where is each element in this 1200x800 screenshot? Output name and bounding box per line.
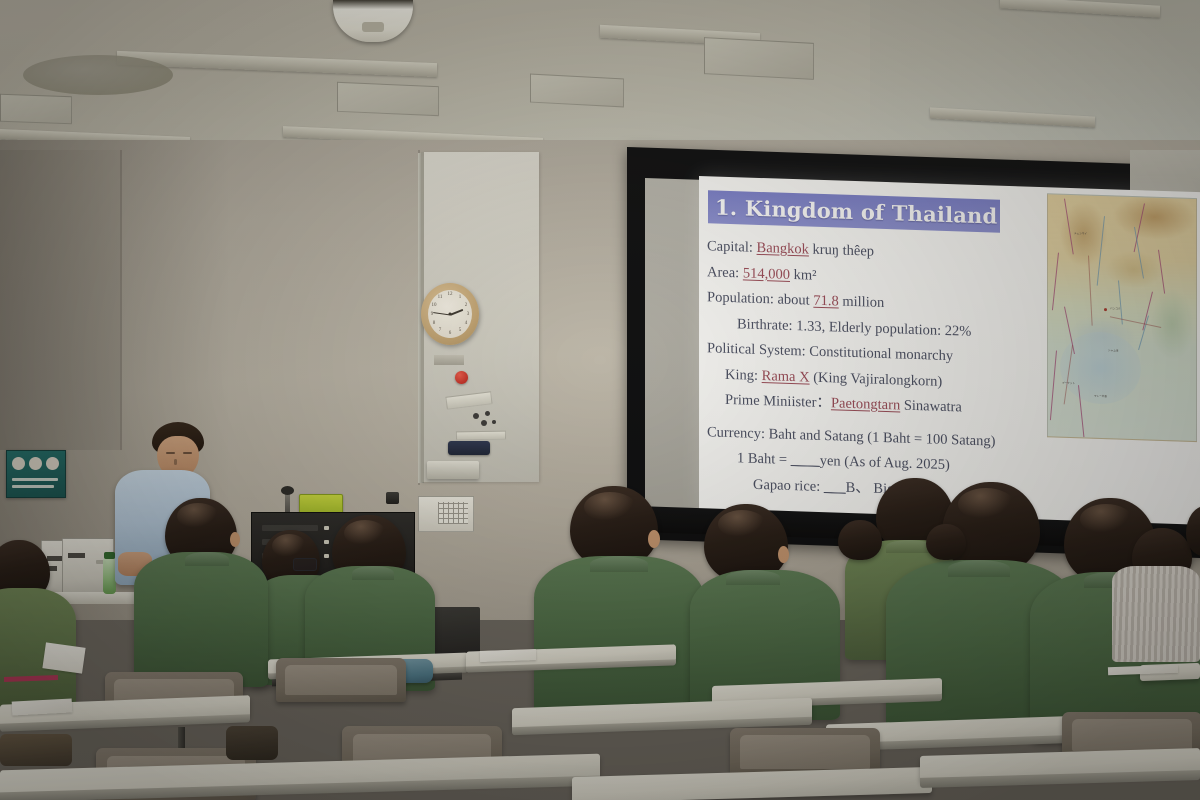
whiteboard-strip [456, 431, 506, 441]
av-led-icon [324, 526, 329, 530]
slide-text-run: Sinawatra [900, 397, 962, 415]
slide-text-run: King: [725, 366, 762, 383]
slide-text-run: kruŋ thêep [809, 242, 874, 260]
clock-wall-plate [434, 355, 464, 365]
desk [572, 767, 932, 800]
chair-backrest [740, 735, 870, 769]
clock-number: 12 [446, 292, 454, 297]
striped-shirt-person [1112, 566, 1200, 662]
clock-hour-hand [450, 308, 464, 315]
air-vent-icon [0, 94, 72, 125]
ceiling-right-shade [870, 0, 1200, 160]
black-magnet-icon[interactable] [485, 411, 490, 416]
student-head-background [926, 524, 966, 560]
slide-text-run: Capital: [707, 238, 757, 256]
slide-text-run: Rama X [762, 368, 810, 386]
polo-collar [590, 556, 648, 572]
clock-number: 5 [456, 328, 464, 333]
ceiling-speaker-icon [23, 55, 173, 95]
slide-text-run: Area: [707, 264, 743, 281]
map-label: チェンマイ [1074, 231, 1087, 235]
black-magnet-icon[interactable] [473, 413, 479, 419]
slide-text-run: ___ [824, 479, 846, 496]
teacher-eye [183, 452, 192, 454]
polo-collar [352, 566, 394, 580]
cabinet-label [47, 556, 63, 561]
poster-text-line-2 [12, 485, 54, 488]
handout[interactable] [42, 642, 85, 673]
air-vent-icon [337, 82, 439, 116]
slide-text-run: Population: about [707, 289, 813, 308]
worksheet[interactable] [480, 649, 536, 662]
slide-text-run: 514,000 [743, 265, 790, 283]
polo-collar [185, 552, 229, 566]
cabinet-label [68, 553, 85, 558]
slide-text-run: 71.8 [813, 293, 838, 310]
slide-text-run: Paetongtarn [831, 395, 900, 413]
slide-text-run: million [839, 294, 885, 311]
clock-face: 12 1 2 3 4 5 6 7 8 9 10 11 [428, 290, 472, 338]
slide-text-run: Political System: Constitutional monarch… [707, 340, 953, 364]
ear [230, 532, 240, 547]
student-torso [134, 552, 268, 687]
slide-text-run: 1 Baht = [737, 450, 791, 468]
clock-number: 3 [464, 312, 472, 317]
clock-number: 11 [436, 295, 444, 300]
air-vent-icon [530, 74, 624, 108]
clock-number: 7 [436, 328, 444, 333]
clock-number: 2 [462, 303, 470, 308]
hair-highlight [958, 488, 1014, 520]
slide-text-run: (King Vajiralongkorn) [810, 369, 943, 389]
ear [648, 530, 660, 548]
poster-icon-2 [29, 457, 42, 470]
chair[interactable] [276, 658, 406, 702]
safety-poster [6, 450, 66, 498]
glasses-icon [293, 558, 317, 571]
teacher-nose [174, 459, 177, 465]
av-led-icon [324, 554, 329, 558]
camera-icon [386, 492, 399, 504]
whiteboard-tray [427, 461, 479, 479]
poster-text-line-1 [12, 478, 58, 481]
av-led-icon [324, 540, 329, 544]
slide-text-run: ____ [791, 452, 820, 469]
school-bag[interactable] [0, 734, 72, 766]
hair-highlight [272, 534, 306, 558]
air-vent-icon [704, 37, 814, 80]
poster-icon-1 [12, 457, 25, 470]
clock-number: 8 [430, 321, 438, 326]
key-grid [438, 502, 468, 524]
classroom-photo: 12 1 2 3 4 5 6 7 8 9 10 11 [0, 0, 1200, 800]
hair-highlight [718, 510, 766, 538]
whiteboard-eraser-icon[interactable] [448, 441, 490, 455]
poster-icon-3 [46, 457, 59, 470]
student-torso [534, 556, 704, 716]
presentation-slide: 1. Kingdom of Thailand バンコク シャム湾 マレー半島 [699, 176, 1200, 532]
slide-text-run: Bangkok [757, 240, 809, 258]
slide-text-run: yen (As of Aug. 2025) [820, 453, 950, 473]
bottle-cap-icon [104, 552, 115, 559]
slide-text-run: km² [790, 266, 817, 283]
chair-backrest [285, 665, 397, 695]
hair-highlight [344, 520, 386, 546]
slide-text-run: Birthrate: 1.33, Elderly population: 22% [737, 316, 971, 340]
clock-center-pin [449, 313, 452, 316]
polo-collar [726, 570, 780, 585]
school-bag[interactable] [226, 726, 278, 760]
chair-backrest [1072, 719, 1192, 751]
hair-highlight [177, 503, 219, 529]
teacher-eye [166, 452, 175, 454]
black-magnet-icon[interactable] [492, 420, 496, 424]
hair-highlight [584, 492, 636, 522]
wall-clock: 12 1 2 3 4 5 6 7 8 9 10 11 [421, 283, 479, 345]
ear [778, 546, 789, 563]
red-magnet-icon[interactable] [455, 371, 468, 384]
student-head-background [838, 520, 882, 560]
hair-highlight [1080, 504, 1132, 534]
black-magnet-icon[interactable] [481, 420, 487, 426]
clock-number: 1 [456, 295, 464, 300]
slide-text-run: Currency: Baht and Satang (1 Baht = 100 … [707, 424, 995, 449]
slide-text-run: Gapao rice: [753, 476, 824, 494]
clock-number: 6 [446, 331, 454, 336]
slide-text-run: Prime Miniister： [725, 392, 831, 411]
slide-body: Capital: Bangkok kruŋ thêep Area: 514,00… [707, 234, 1177, 511]
clock-number: 10 [430, 303, 438, 308]
polo-collar [948, 560, 1010, 577]
clock-number: 4 [462, 321, 470, 326]
microphone-icon [281, 486, 294, 495]
